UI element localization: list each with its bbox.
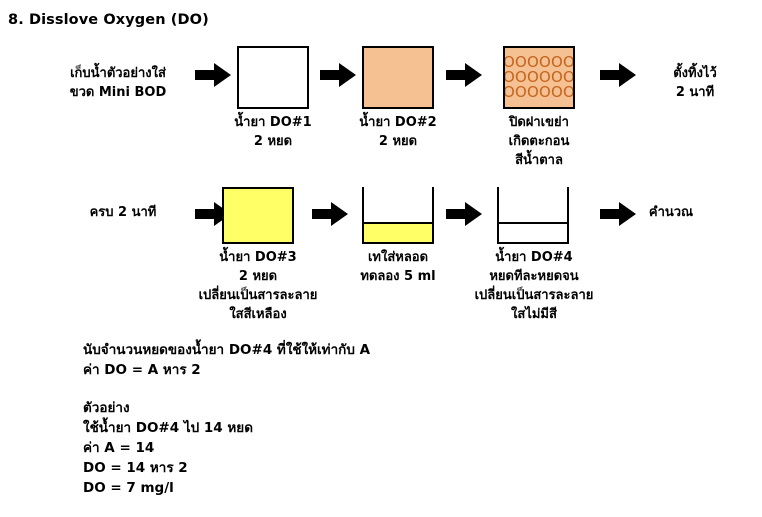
notes-line-1: นับจำนวนหยดของน้ำยา DO#4 ที่ใช้ให้เท่ากั… — [83, 340, 370, 360]
example-heading: ตัวอย่าง — [83, 398, 130, 418]
arrow-right-icon — [312, 201, 348, 227]
caption-do4: น้ำยา DO#4 หยดทีละหยดจน เปลี่ยนเป็นสารละ… — [464, 248, 604, 324]
row1-arrow-2 — [320, 62, 356, 88]
caption-do2-line1: น้ำยา DO#2 — [332, 113, 464, 132]
example-line-1: ใช้น้ำยา DO#4 ไป 14 หยด — [83, 418, 253, 438]
row1-start-label-line1: เก็บน้ำตัวอย่างใส่ — [48, 64, 188, 83]
row1-end-label-line1: ตั้งทิ้งไว้ — [640, 64, 750, 83]
caption-tube-yellow: เทใส่หลอด ทดลอง 5 ml — [332, 248, 464, 286]
notes-line-2: ค่า DO = A หาร 2 — [83, 360, 201, 380]
row1-end-label: ตั้งทิ้งไว้ 2 นาที — [640, 64, 750, 102]
example-line-3: DO = 14 หาร 2 — [83, 458, 188, 478]
row2-end-label: คำนวณ — [606, 203, 736, 222]
caption-do1-line1: น้ำยา DO#1 — [207, 113, 339, 132]
row1-end-label-line2: 2 นาที — [640, 83, 750, 102]
caption-do3-line3: เปลี่ยนเป็นสารละลาย — [183, 286, 333, 305]
caption-do3-line1: น้ำยา DO#3 — [183, 248, 333, 267]
page-title: 8. Disslove Oxygen (DO) — [8, 12, 209, 28]
row1-start-label-line2: ขวด Mini BOD — [48, 83, 188, 102]
tube-liquid-clear — [499, 222, 567, 242]
caption-precipitate-line2: เกิดตะกอน — [473, 132, 605, 151]
row1-arrow-4 — [600, 62, 636, 88]
precipitate-grid: OOOOOO OOOOOO OOOOOO — [505, 48, 573, 107]
caption-precipitate-line3: สีน้ำตาล — [473, 151, 605, 170]
row1-arrow-3 — [446, 62, 482, 88]
row2-start-label-line1: ครบ 2 นาที — [58, 203, 188, 222]
row1-arrow-1 — [195, 62, 231, 88]
caption-do1: น้ำยา DO#1 2 หยด — [207, 113, 339, 151]
caption-do1-line2: 2 หยด — [207, 132, 339, 151]
caption-do4-line3: เปลี่ยนเป็นสารละลาย — [464, 286, 604, 305]
vessel-do2-square — [362, 46, 434, 109]
arrow-right-icon — [446, 201, 482, 227]
vessel-precipitate-square: OOOOOO OOOOOO OOOOOO — [503, 46, 575, 109]
caption-precipitate: ปิดฝาเขย่า เกิดตะกอน สีน้ำตาล — [473, 113, 605, 170]
precipitate-row: OOOOOO — [505, 85, 573, 100]
caption-precipitate-line1: ปิดฝาเขย่า — [473, 113, 605, 132]
caption-tube-yellow-line2: ทดลอง 5 ml — [332, 267, 464, 286]
vessel-tube-clear — [497, 187, 569, 244]
arrow-right-icon — [446, 62, 482, 88]
row2-start-label: ครบ 2 นาที — [58, 203, 188, 222]
caption-do2-line2: 2 หยด — [332, 132, 464, 151]
caption-do3-line2: 2 หยด — [183, 267, 333, 286]
arrow-right-icon — [600, 62, 636, 88]
caption-tube-yellow-line1: เทใส่หลอด — [332, 248, 464, 267]
row2-arrow-3 — [446, 201, 482, 227]
tube-liquid-yellow — [364, 222, 432, 242]
row1-start-label: เก็บน้ำตัวอย่างใส่ ขวด Mini BOD — [48, 64, 188, 102]
caption-do3-line4: ใสสีเหลือง — [183, 305, 333, 324]
vessel-do3-square — [222, 187, 294, 244]
example-line-4: DO = 7 mg/l — [83, 478, 174, 498]
caption-do2: น้ำยา DO#2 2 หยด — [332, 113, 464, 151]
arrow-right-icon — [195, 62, 231, 88]
row2-arrow-2 — [312, 201, 348, 227]
vessel-do1-square — [237, 46, 309, 109]
vessel-tube-yellow — [362, 187, 434, 244]
arrow-right-icon — [320, 62, 356, 88]
example-line-2: ค่า A = 14 — [83, 438, 154, 458]
caption-do4-line4: ใสไม่มีสี — [464, 305, 604, 324]
caption-do4-line2: หยดทีละหยดจน — [464, 267, 604, 286]
caption-do3: น้ำยา DO#3 2 หยด เปลี่ยนเป็นสารละลาย ใสส… — [183, 248, 333, 324]
caption-do4-line1: น้ำยา DO#4 — [464, 248, 604, 267]
row2-end-label-line1: คำนวณ — [606, 203, 736, 222]
